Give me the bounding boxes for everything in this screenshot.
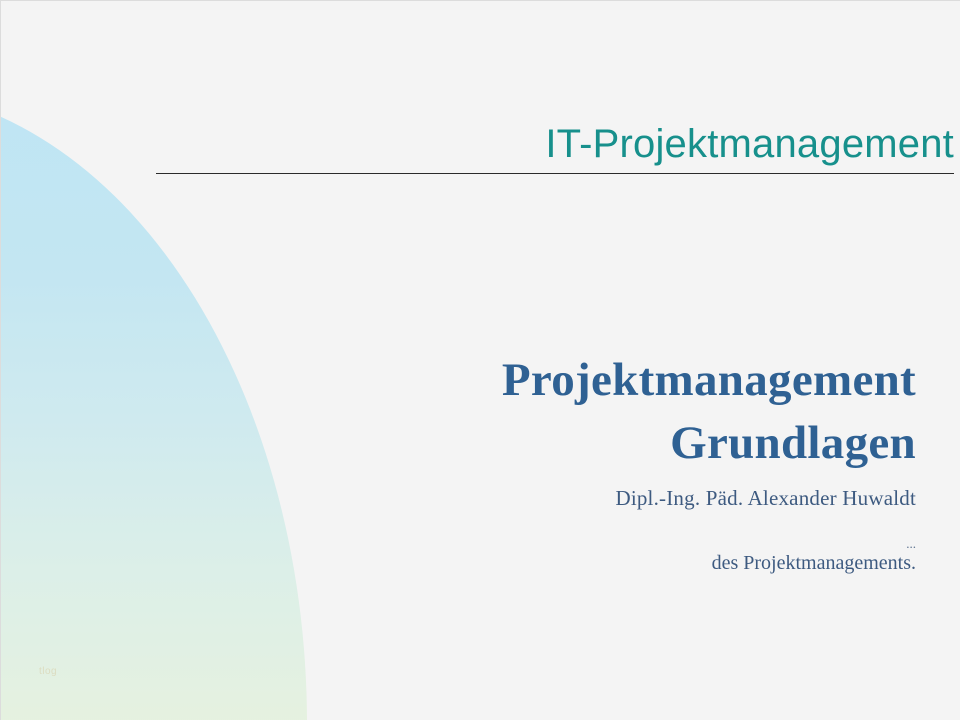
- tagline-block: ... des Projektmanagements.: [381, 537, 916, 576]
- page-title: IT-Projektmanagement: [156, 121, 954, 167]
- main-heading: Projektmanagement Grundlagen: [381, 349, 916, 474]
- slide-body-area: Projektmanagement Grundlagen Dipl.-Ing. …: [381, 349, 916, 576]
- presentation-slide: tlog IT-Projektmanagement Projektmanagem…: [0, 0, 960, 720]
- tagline-ellipsis: ...: [381, 537, 916, 551]
- title-divider-rule: [156, 173, 954, 174]
- slide-watermark: tlog: [39, 666, 57, 677]
- slide-title-area: IT-Projektmanagement: [156, 121, 954, 174]
- author-byline: Dipl.-Ing. Päd. Alexander Huwaldt: [381, 486, 916, 511]
- main-heading-line-1: Projektmanagement: [381, 349, 916, 412]
- decorative-gradient-oval: [0, 89, 307, 720]
- main-heading-line-2: Grundlagen: [381, 412, 916, 475]
- tagline-phrase: des Projektmanagements.: [381, 551, 916, 576]
